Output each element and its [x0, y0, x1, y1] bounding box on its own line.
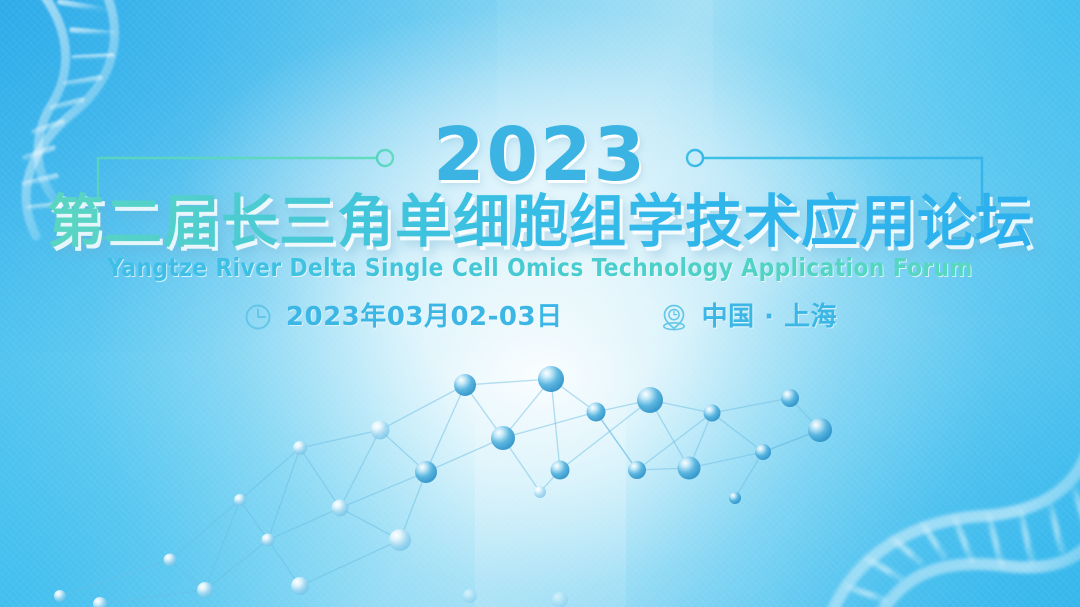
poster-date-text: 2023年03月02-03日: [286, 302, 563, 332]
poster-location-text: 中国 · 上海: [702, 302, 837, 332]
location-pin-icon: [659, 302, 689, 332]
poster-year: 2023: [0, 118, 1080, 192]
poster-date-item: 2023年03月02-03日: [243, 302, 563, 332]
poster-info-row: 2023年03月02-03日 中国 · 上海: [0, 302, 1080, 332]
poster-title-english: Yangtze River Delta Single Cell Omics Te…: [16, 253, 1064, 283]
poster-title-chinese: 第二届长三角单细胞组学技术应用论坛: [0, 190, 1080, 254]
conference-poster: 2023 第二届长三角单细胞组学技术应用论坛 Yangtze River Del…: [0, 0, 1080, 607]
poster-location-item: 中国 · 上海: [659, 302, 837, 332]
clock-icon: [243, 302, 273, 332]
